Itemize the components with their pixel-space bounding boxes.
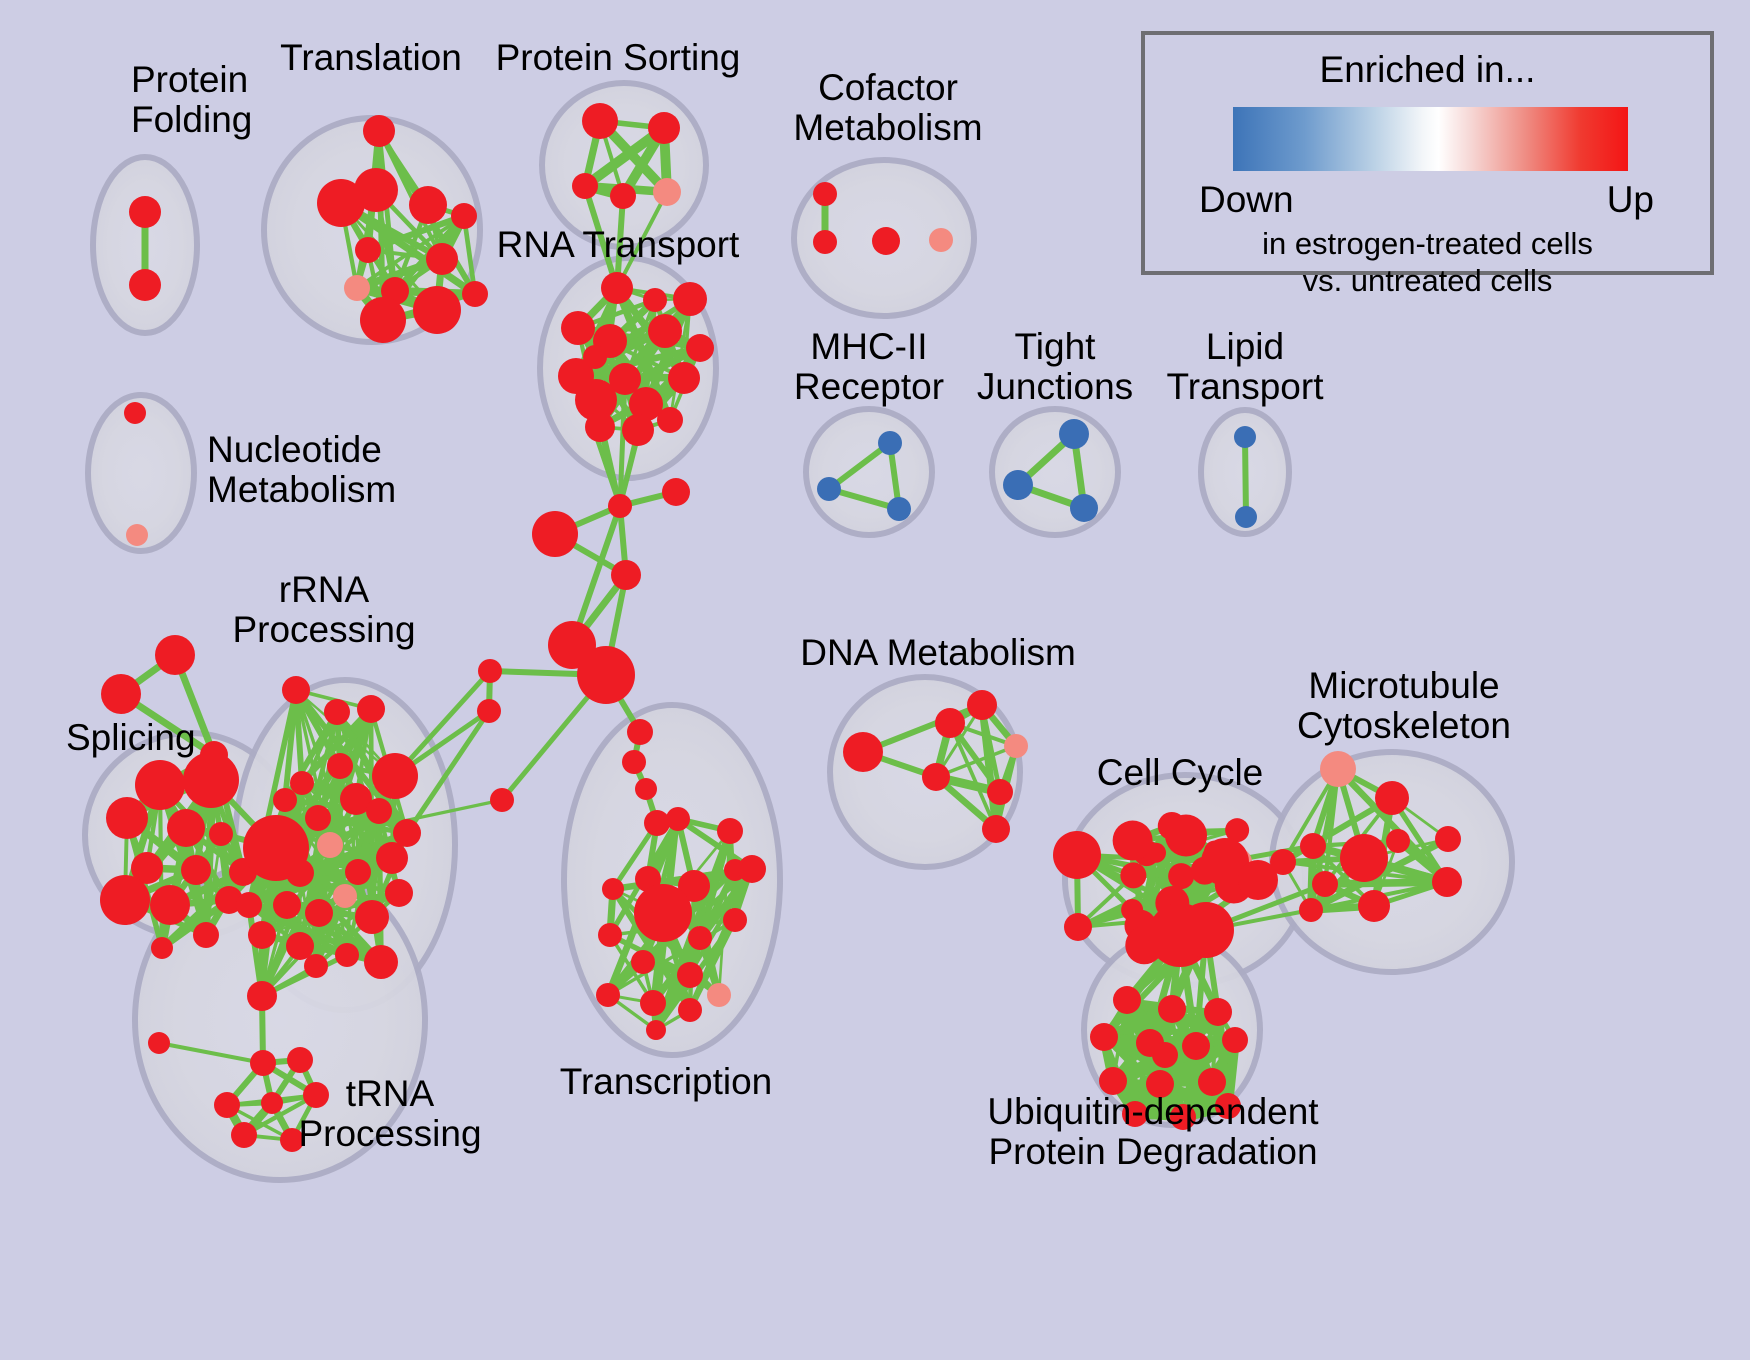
network-node[interactable] bbox=[193, 922, 219, 948]
network-node[interactable] bbox=[273, 788, 297, 812]
network-node[interactable] bbox=[668, 362, 700, 394]
network-node[interactable] bbox=[286, 859, 314, 887]
network-node[interactable] bbox=[648, 112, 680, 144]
network-node[interactable] bbox=[151, 937, 173, 959]
network-node[interactable] bbox=[1178, 902, 1234, 958]
network-node[interactable] bbox=[572, 173, 598, 199]
network-node[interactable] bbox=[129, 196, 161, 228]
legend-color-gradient bbox=[1233, 107, 1628, 171]
network-node[interactable] bbox=[1168, 863, 1194, 889]
cluster-label-rrna-processing: rRNA Processing bbox=[232, 570, 415, 650]
network-node[interactable] bbox=[231, 1122, 257, 1148]
network-node[interactable] bbox=[1235, 506, 1257, 528]
legend-caption-line2: vs. untreated cells bbox=[1303, 263, 1553, 298]
network-node[interactable] bbox=[129, 269, 161, 301]
network-node[interactable] bbox=[1121, 899, 1143, 921]
network-node[interactable] bbox=[344, 275, 370, 301]
network-node[interactable] bbox=[1300, 833, 1326, 859]
network-node[interactable] bbox=[967, 690, 997, 720]
network-node[interactable] bbox=[678, 998, 702, 1022]
network-node[interactable] bbox=[287, 1047, 313, 1073]
network-node[interactable] bbox=[686, 334, 714, 362]
network-node[interactable] bbox=[345, 859, 371, 885]
network-node[interactable] bbox=[451, 203, 477, 229]
network-node[interactable] bbox=[1059, 419, 1089, 449]
cluster-hull bbox=[806, 409, 932, 535]
network-node[interactable] bbox=[250, 1050, 276, 1076]
network-node[interactable] bbox=[1113, 986, 1141, 1014]
network-node[interactable] bbox=[598, 923, 622, 947]
network-node[interactable] bbox=[183, 752, 239, 808]
network-node[interactable] bbox=[106, 797, 148, 839]
network-node[interactable] bbox=[305, 899, 333, 927]
network-node[interactable] bbox=[317, 832, 343, 858]
network-node[interactable] bbox=[644, 810, 670, 836]
network-edge bbox=[1325, 882, 1447, 884]
network-node[interactable] bbox=[385, 879, 413, 907]
network-node[interactable] bbox=[393, 819, 421, 847]
network-node[interactable] bbox=[601, 272, 633, 304]
network-node[interactable] bbox=[181, 855, 211, 885]
cluster-label-cofactor-metabolism: Cofactor Metabolism bbox=[793, 68, 982, 148]
network-node[interactable] bbox=[155, 635, 195, 675]
network-node[interactable] bbox=[247, 981, 277, 1011]
network-node[interactable] bbox=[922, 763, 950, 791]
network-node[interactable] bbox=[1386, 829, 1410, 853]
network-node[interactable] bbox=[602, 878, 624, 900]
legend-caption-line1: in estrogen-treated cells bbox=[1262, 226, 1593, 261]
cluster-label-protein-sorting: Protein Sorting bbox=[496, 38, 741, 78]
network-node[interactable] bbox=[532, 511, 578, 557]
network-node[interactable] bbox=[126, 524, 148, 546]
network-node[interactable] bbox=[887, 497, 911, 521]
network-node[interactable] bbox=[577, 646, 635, 704]
network-node[interactable] bbox=[214, 1092, 240, 1118]
network-node[interactable] bbox=[490, 788, 514, 812]
network-node[interactable] bbox=[124, 402, 146, 424]
network-node[interactable] bbox=[662, 478, 690, 506]
network-node[interactable] bbox=[150, 885, 190, 925]
network-node[interactable] bbox=[360, 297, 406, 343]
network-node[interactable] bbox=[304, 954, 328, 978]
network-node[interactable] bbox=[1182, 1032, 1210, 1060]
network-node[interactable] bbox=[305, 805, 331, 831]
network-node[interactable] bbox=[100, 875, 150, 925]
network-node[interactable] bbox=[236, 892, 262, 918]
network-node[interactable] bbox=[666, 807, 690, 831]
network-node[interactable] bbox=[327, 753, 353, 779]
network-node[interactable] bbox=[1375, 781, 1409, 815]
network-node[interactable] bbox=[1435, 826, 1461, 852]
legend-high-label: Up bbox=[1607, 179, 1654, 221]
cluster-label-dna-metabolism: DNA Metabolism bbox=[800, 633, 1076, 673]
network-node[interactable] bbox=[657, 407, 683, 433]
cluster-label-protein-folding: Protein Folding bbox=[131, 60, 252, 140]
network-node[interactable] bbox=[1146, 843, 1166, 863]
network-node[interactable] bbox=[648, 314, 682, 348]
network-node[interactable] bbox=[817, 477, 841, 501]
network-node[interactable] bbox=[1312, 871, 1338, 897]
network-node[interactable] bbox=[372, 753, 418, 799]
network-node[interactable] bbox=[413, 286, 461, 334]
network-node[interactable] bbox=[673, 282, 707, 316]
network-node[interactable] bbox=[1299, 898, 1323, 922]
cluster-label-splicing: Splicing bbox=[66, 718, 196, 758]
network-node[interactable] bbox=[148, 1032, 170, 1054]
network-node[interactable] bbox=[366, 798, 392, 824]
network-node[interactable] bbox=[248, 921, 276, 949]
network-node[interactable] bbox=[611, 560, 641, 590]
network-node[interactable] bbox=[813, 230, 837, 254]
network-node[interactable] bbox=[717, 818, 743, 844]
network-node[interactable] bbox=[878, 431, 902, 455]
network-node[interactable] bbox=[1064, 913, 1092, 941]
network-node[interactable] bbox=[324, 699, 350, 725]
network-node[interactable] bbox=[376, 842, 408, 874]
network-node[interactable] bbox=[364, 945, 398, 979]
network-node[interactable] bbox=[585, 412, 615, 442]
network-node[interactable] bbox=[426, 243, 458, 275]
network-node[interactable] bbox=[1204, 998, 1232, 1026]
network-node[interactable] bbox=[561, 311, 595, 345]
cluster-label-ubiquitin-protein-degradation: Ubiquitin-dependent Protein Degradation bbox=[987, 1092, 1318, 1172]
network-node[interactable] bbox=[477, 699, 501, 723]
network-node[interactable] bbox=[631, 950, 655, 974]
network-node[interactable] bbox=[1158, 995, 1186, 1023]
network-node[interactable] bbox=[738, 855, 766, 883]
network-node[interactable] bbox=[634, 884, 692, 942]
network-node[interactable] bbox=[335, 943, 359, 967]
cluster-label-rna-transport: RNA Transport bbox=[497, 225, 740, 265]
network-node[interactable] bbox=[355, 900, 389, 934]
network-node[interactable] bbox=[1358, 890, 1390, 922]
network-node[interactable] bbox=[1120, 862, 1146, 888]
network-node[interactable] bbox=[1090, 1023, 1118, 1051]
network-node[interactable] bbox=[872, 227, 900, 255]
network-node[interactable] bbox=[843, 732, 883, 772]
cluster-label-microtubule-cytoskeleton: Microtubule Cytoskeleton bbox=[1297, 666, 1511, 746]
network-node[interactable] bbox=[317, 179, 365, 227]
cluster-label-tight-junctions: Tight Junctions bbox=[977, 327, 1133, 407]
network-node[interactable] bbox=[478, 659, 502, 683]
network-node[interactable] bbox=[135, 760, 185, 810]
network-node[interactable] bbox=[462, 281, 488, 307]
network-node[interactable] bbox=[1234, 426, 1256, 448]
network-node[interactable] bbox=[261, 1092, 283, 1114]
network-node[interactable] bbox=[409, 186, 447, 224]
network-node[interactable] bbox=[929, 228, 953, 252]
legend-box: Enriched in... Down Up in estrogen-treat… bbox=[1141, 31, 1714, 275]
network-node[interactable] bbox=[1222, 1027, 1248, 1053]
cluster-label-mhc-ii-receptor: MHC-II Receptor bbox=[794, 327, 944, 407]
network-node[interactable] bbox=[723, 908, 747, 932]
network-node[interactable] bbox=[813, 182, 837, 206]
network-node[interactable] bbox=[101, 674, 141, 714]
network-node[interactable] bbox=[1165, 816, 1197, 848]
network-node[interactable] bbox=[635, 778, 657, 800]
cluster-label-nucleotide-metabolism: Nucleotide Metabolism bbox=[207, 430, 396, 510]
network-node[interactable] bbox=[1340, 834, 1388, 882]
network-node[interactable] bbox=[688, 926, 712, 950]
network-node[interactable] bbox=[935, 708, 965, 738]
cluster-label-trna-processing: tRNA Processing bbox=[298, 1074, 481, 1154]
cluster-label-translation: Translation bbox=[280, 38, 462, 78]
network-node[interactable] bbox=[982, 815, 1010, 843]
cluster-label-cell-cycle: Cell Cycle bbox=[1097, 753, 1264, 793]
legend-low-label: Down bbox=[1199, 179, 1294, 221]
network-edge bbox=[1245, 437, 1246, 517]
network-node[interactable] bbox=[643, 288, 667, 312]
legend-title: Enriched in... bbox=[1145, 49, 1710, 91]
network-node[interactable] bbox=[987, 779, 1013, 805]
network-node[interactable] bbox=[653, 178, 681, 206]
network-node[interactable] bbox=[1152, 1042, 1178, 1068]
network-node[interactable] bbox=[1270, 849, 1296, 875]
network-node[interactable] bbox=[1320, 751, 1356, 787]
network-node[interactable] bbox=[357, 695, 385, 723]
network-node[interactable] bbox=[627, 719, 653, 745]
network-node[interactable] bbox=[1070, 494, 1098, 522]
network-node[interactable] bbox=[273, 891, 301, 919]
network-node[interactable] bbox=[167, 809, 205, 847]
network-node[interactable] bbox=[583, 345, 607, 369]
legend-caption: in estrogen-treated cellsvs. untreated c… bbox=[1145, 225, 1710, 299]
network-node[interactable] bbox=[209, 822, 233, 846]
enrichment-network-figure: Protein FoldingTranslationProtein Sortin… bbox=[0, 0, 1750, 1360]
network-node[interactable] bbox=[622, 414, 654, 446]
network-node[interactable] bbox=[596, 983, 620, 1007]
network-node[interactable] bbox=[1432, 867, 1462, 897]
network-node[interactable] bbox=[1003, 470, 1033, 500]
cluster-label-lipid-transport: Lipid Transport bbox=[1167, 327, 1324, 407]
network-edge bbox=[379, 811, 381, 962]
network-node[interactable] bbox=[707, 983, 731, 1007]
network-node[interactable] bbox=[608, 494, 632, 518]
network-node[interactable] bbox=[1004, 734, 1028, 758]
network-node[interactable] bbox=[677, 962, 703, 988]
network-node[interactable] bbox=[622, 750, 646, 774]
network-node[interactable] bbox=[290, 771, 314, 795]
network-node[interactable] bbox=[646, 1020, 666, 1040]
network-node[interactable] bbox=[1053, 831, 1101, 879]
network-node[interactable] bbox=[363, 115, 395, 147]
network-node[interactable] bbox=[582, 103, 618, 139]
cluster-label-transcription: Transcription bbox=[560, 1062, 772, 1102]
network-node[interactable] bbox=[640, 990, 666, 1016]
network-node[interactable] bbox=[333, 884, 357, 908]
network-node[interactable] bbox=[282, 676, 310, 704]
network-node[interactable] bbox=[355, 237, 381, 263]
network-node[interactable] bbox=[610, 183, 636, 209]
